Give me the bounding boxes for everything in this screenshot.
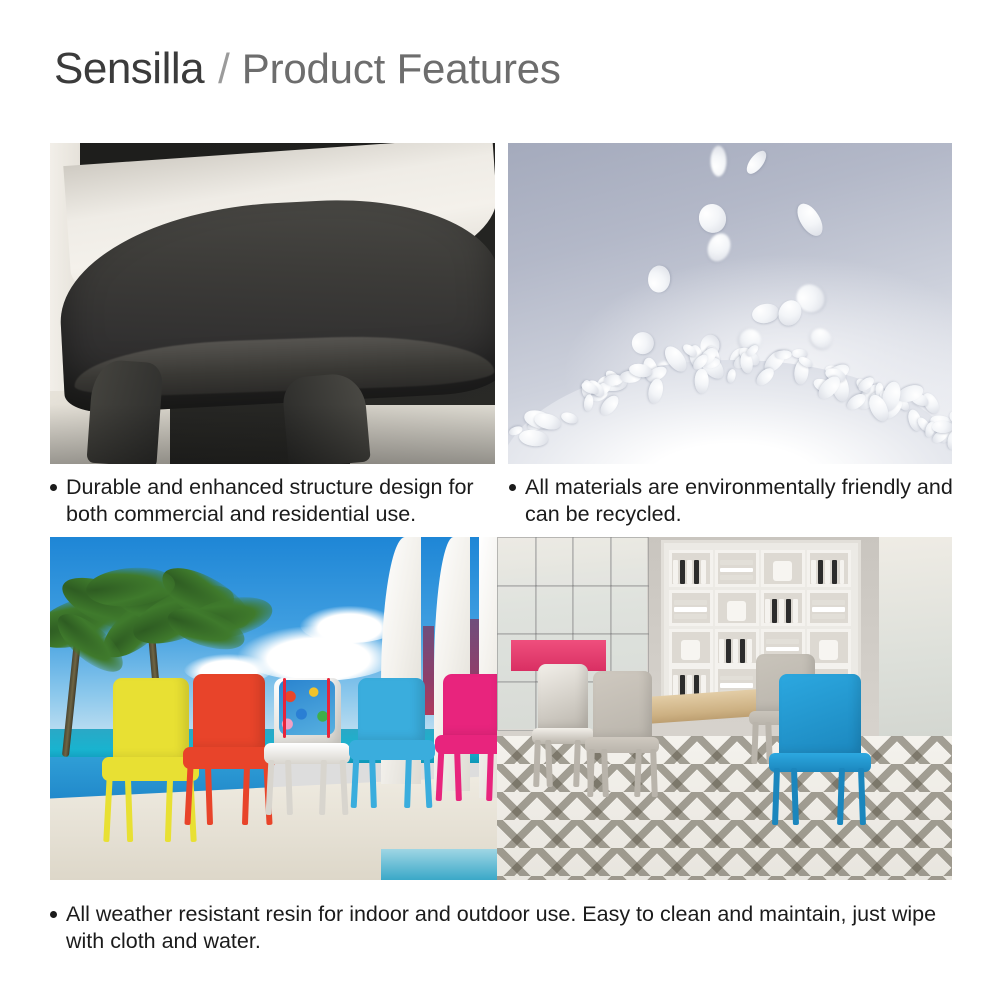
title-separator: / xyxy=(218,45,230,93)
pool-chair xyxy=(274,678,341,815)
chair-leg xyxy=(125,776,133,842)
shelf-box xyxy=(773,561,791,581)
shelf-book xyxy=(786,599,791,623)
chair-leg xyxy=(545,740,553,787)
chair-seat-closeup-image xyxy=(50,143,495,464)
shelf-cell xyxy=(761,590,805,626)
stacked-books xyxy=(812,607,845,612)
stacked-books xyxy=(674,614,707,619)
chair-leg xyxy=(454,750,462,801)
stacked-books xyxy=(720,560,753,565)
pool-chair xyxy=(443,674,497,801)
window-pane xyxy=(535,537,575,587)
chair-leg xyxy=(370,756,378,808)
poolside-chairs-image xyxy=(50,537,497,880)
dining-room-chairs-image xyxy=(497,537,952,880)
pool-chair xyxy=(113,678,189,843)
chair-leg xyxy=(837,768,845,826)
shelf-cell xyxy=(715,550,759,586)
stacked-books xyxy=(720,568,753,573)
shelf-book xyxy=(687,560,692,584)
shelf-book xyxy=(733,639,738,663)
pool-chair xyxy=(358,678,425,808)
shelf-book xyxy=(694,560,699,584)
shelf-book xyxy=(811,560,816,584)
stacked-books xyxy=(766,647,799,652)
window-pane xyxy=(497,681,537,731)
chair-seat xyxy=(349,740,435,760)
chair-leg xyxy=(404,756,412,808)
shelf-cell xyxy=(669,590,713,626)
chair-leg xyxy=(319,760,327,815)
chair-leg xyxy=(587,749,595,797)
shelf-book xyxy=(726,639,731,663)
shelf-book xyxy=(832,560,837,584)
shelf-book xyxy=(818,560,823,584)
shelf-book xyxy=(825,560,830,584)
feature-caption-2-text: All materials are environmentally friend… xyxy=(525,474,969,528)
stacked-books xyxy=(720,676,753,681)
shelf-book xyxy=(747,639,752,663)
feature-caption-3-text: All weather resistant resin for indoor a… xyxy=(66,901,960,955)
window-pane xyxy=(497,537,537,587)
pile-pellet xyxy=(694,368,708,393)
chair-back xyxy=(358,678,425,746)
chair-seat xyxy=(264,743,350,764)
page-title: Sensilla / Product Features xyxy=(54,44,561,94)
stacked-books xyxy=(812,614,845,619)
chair-leg xyxy=(205,765,213,826)
window-pane xyxy=(572,585,612,635)
shelf-cell xyxy=(669,550,713,586)
shelf-box xyxy=(819,640,837,660)
chair-leg xyxy=(165,776,173,842)
pool-deck-edge xyxy=(381,849,497,880)
shelf-box xyxy=(727,601,745,621)
chair-back xyxy=(193,674,265,752)
chair-back xyxy=(538,664,588,732)
feature-caption-3: All weather resistant resin for indoor a… xyxy=(50,901,960,955)
shelf-book xyxy=(772,599,777,623)
chair-back xyxy=(113,678,189,764)
page-subtitle: Product Features xyxy=(242,45,561,93)
shelf-book xyxy=(793,599,798,623)
bullet-icon xyxy=(50,484,57,491)
stacked-books xyxy=(674,600,707,605)
shelf-book xyxy=(680,560,685,584)
shelf-book xyxy=(779,599,784,623)
chair-leg xyxy=(791,768,799,826)
seat-shadow xyxy=(50,404,495,464)
feature-caption-2: All materials are environmentally friend… xyxy=(509,474,969,528)
shelf-book xyxy=(765,599,770,623)
window-pane xyxy=(610,537,650,587)
chair-leg xyxy=(285,760,293,815)
feature-caption-1: Durable and enhanced structure design fo… xyxy=(50,474,500,528)
strap-right xyxy=(327,678,330,738)
shelf-cell xyxy=(669,629,713,665)
dining-chair xyxy=(779,674,861,825)
shelf-cell xyxy=(761,550,805,586)
resin-pellets-image xyxy=(508,143,952,464)
shelf-book xyxy=(840,560,845,584)
shelf-cell xyxy=(807,550,851,586)
chair-back xyxy=(779,674,861,757)
stacked-books xyxy=(720,575,753,580)
chair-leg xyxy=(436,750,445,801)
shelf-book xyxy=(740,639,745,663)
window-pane xyxy=(610,585,650,635)
strap-left xyxy=(283,678,286,738)
chair-leg xyxy=(533,740,541,787)
brand-name: Sensilla xyxy=(54,44,204,94)
pile-pellet xyxy=(932,421,952,433)
chair-leg xyxy=(573,740,581,787)
chair-leg xyxy=(339,760,348,815)
dining-window-right xyxy=(879,537,952,750)
chair-seat xyxy=(769,753,871,773)
bullet-icon xyxy=(509,484,516,491)
chair-seat xyxy=(585,737,658,753)
stacked-books xyxy=(720,683,753,688)
stacked-books xyxy=(812,600,845,605)
chair-back xyxy=(593,671,652,741)
chair-back xyxy=(443,674,497,740)
chair-leg xyxy=(751,722,758,764)
bullet-icon xyxy=(50,911,57,918)
chair-leg xyxy=(601,749,609,797)
dining-chair xyxy=(538,664,588,787)
window-pane xyxy=(572,537,612,587)
chair-leg xyxy=(634,749,642,797)
shelf-cell xyxy=(715,590,759,626)
chair-leg xyxy=(350,756,359,808)
shelf-cell xyxy=(715,629,759,665)
shelf-book xyxy=(701,560,706,584)
stacked-books xyxy=(674,607,707,612)
window-pane xyxy=(497,585,537,635)
pool-chair xyxy=(193,674,265,825)
shelf-box xyxy=(681,640,699,660)
chair-leg xyxy=(650,749,658,797)
chair-seat xyxy=(183,747,275,770)
window-pane xyxy=(535,585,575,635)
shelf-cell xyxy=(807,590,851,626)
shelf-book xyxy=(673,560,678,584)
shelf-book xyxy=(719,639,724,663)
chair-leg xyxy=(242,765,250,826)
chair-leg xyxy=(486,750,494,801)
feature-caption-1-text: Durable and enhanced structure design fo… xyxy=(66,474,500,528)
stacked-books xyxy=(766,639,799,644)
dining-chair xyxy=(593,671,652,798)
chair-leg xyxy=(772,768,780,826)
